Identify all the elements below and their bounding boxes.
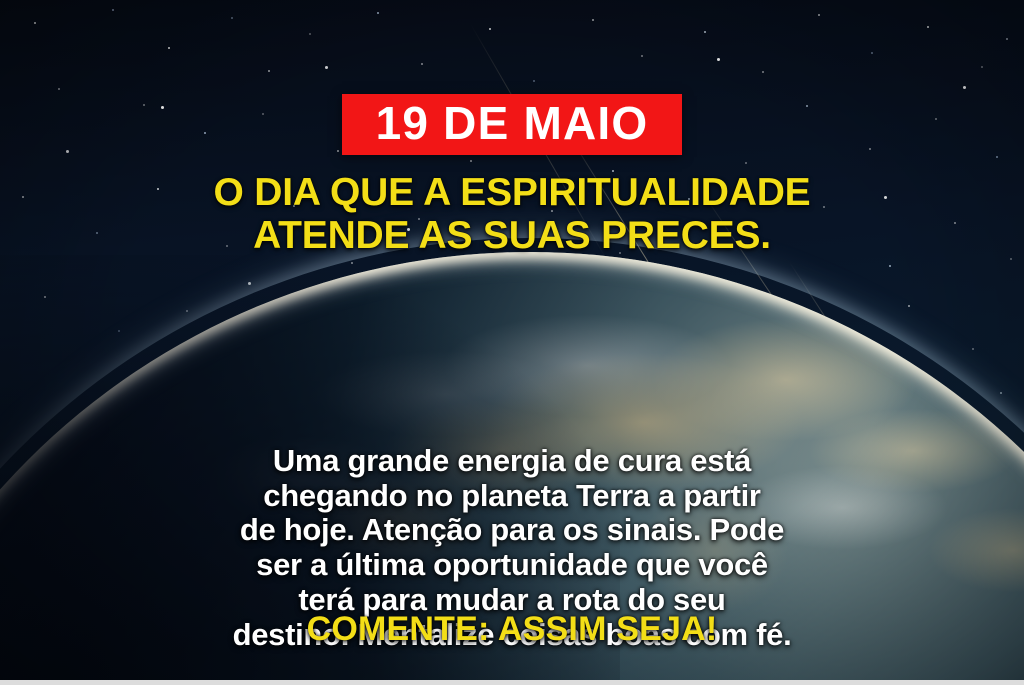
poster-image: 19 DE MAIO O DIA QUE A ESPIRITUALIDADE A… [0,0,1024,685]
date-banner: 19 DE MAIO [342,94,683,155]
body-line-2: chegando no planeta Terra a partir [0,479,1024,514]
headline: O DIA QUE A ESPIRITUALIDADE ATENDE AS SU… [214,172,811,258]
headline-line-2: ATENDE AS SUAS PRECES. [214,215,811,258]
body-line-3: de hoje. Atenção para os sinais. Pode [0,513,1024,548]
call-to-action-text: COMENTE: ASSIM SEJA! [0,612,1024,646]
bottom-edge-strip [0,680,1024,685]
body-line-4: ser a última oportunidade que você [0,548,1024,583]
body-line-1: Uma grande energia de cura está [0,444,1024,479]
date-banner-text: 19 DE MAIO [376,100,649,146]
headline-line-1: O DIA QUE A ESPIRITUALIDADE [214,172,811,215]
